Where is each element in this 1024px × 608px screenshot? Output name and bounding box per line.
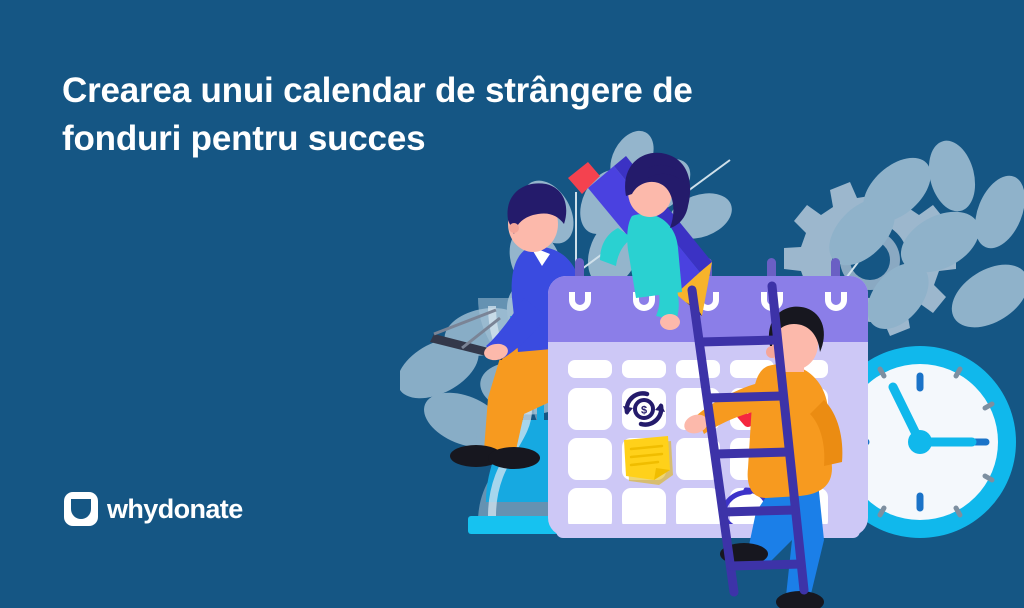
slide-canvas: Crearea unui calendar de strângere de fo… <box>0 0 1024 608</box>
calendar-fundraising-illustration: $ <box>400 120 1024 608</box>
brand-name: whydonate <box>107 494 243 525</box>
clock-center-pin <box>908 430 932 454</box>
whydonate-cup-icon <box>64 492 98 526</box>
sticky-note-icon <box>624 436 673 485</box>
svg-text:$: $ <box>641 405 647 417</box>
brand-logo[interactable]: whydonate <box>64 492 243 526</box>
